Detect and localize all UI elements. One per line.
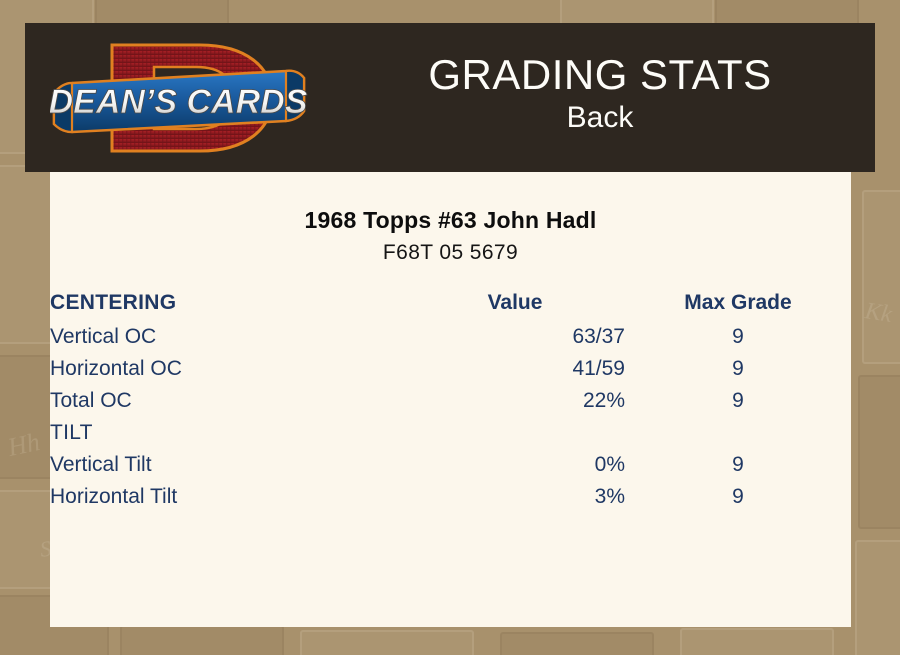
row-max-grade: 9 [625,449,851,481]
row-value: 3% [405,481,625,513]
section-spacer [405,417,625,449]
card-heading: 1968 Topps #63 John Hadl [50,207,851,234]
row-max-grade: 9 [625,481,851,513]
background-card-ghost [862,190,900,364]
background-card-ghost [300,630,474,655]
row-max-grade: 9 [625,353,851,385]
row-value: 41/59 [405,353,625,385]
table-row: Total OC 22% 9 [50,385,851,417]
page-title: GRADING STATS [428,53,771,97]
row-label: Horizontal OC [50,353,405,385]
table-row: Vertical Tilt 0% 9 [50,449,851,481]
table-row: Horizontal OC 41/59 9 [50,353,851,385]
background-scribble: Kk [863,298,894,329]
table-row: Horizontal Tilt 3% 9 [50,481,851,513]
content-panel: 1968 Topps #63 John Hadl F68T 05 5679 CE… [50,172,851,627]
row-max-grade: 9 [625,385,851,417]
grading-stats-table: CENTERING Value Max Grade Vertical OC 63… [50,291,851,513]
row-value: 22% [405,385,625,417]
header-title-block: GRADING STATS Back [325,23,875,172]
row-label: Horizontal Tilt [50,481,405,513]
table-section-row: TILT [50,417,851,449]
background-card-ghost [120,625,284,655]
logo-ribbon-text: DEAN’S CARDS [50,83,308,121]
column-header-centering: CENTERING [50,291,405,321]
card-serial-number: F68T 05 5679 [50,241,851,265]
deans-cards-logo[interactable]: DEAN’S CARDS [50,31,310,166]
header-bar: DEAN’S CARDS GRADING STATS Back [25,23,875,172]
row-max-grade: 9 [625,321,851,353]
row-label: Vertical OC [50,321,405,353]
row-label: Vertical Tilt [50,449,405,481]
section-spacer [625,417,851,449]
background-card-ghost [855,540,900,655]
column-header-max-grade: Max Grade [625,291,851,321]
background-card-ghost [500,632,654,655]
row-label: Total OC [50,385,405,417]
table-row: Vertical OC 63/37 9 [50,321,851,353]
section-header-tilt: TILT [50,417,405,449]
table-header-row: CENTERING Value Max Grade [50,291,851,321]
logo-ribbon: DEAN’S CARDS [50,71,308,132]
background-card-ghost [858,375,900,529]
row-value: 63/37 [405,321,625,353]
column-header-value: Value [405,291,625,321]
row-value: 0% [405,449,625,481]
page-subtitle: Back [567,99,634,137]
background-card-ghost [680,628,834,655]
